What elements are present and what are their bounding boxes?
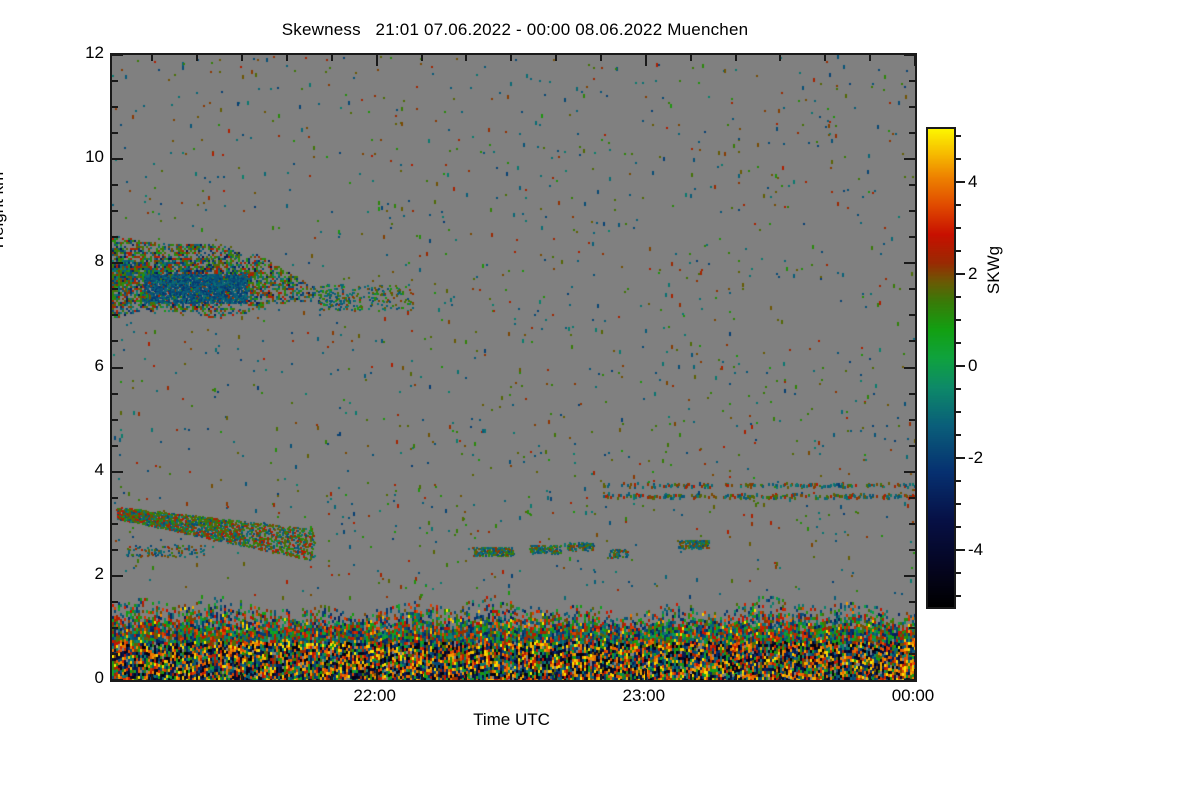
y-axis-minor-tick [112,445,118,447]
y-axis-major-tick [112,471,123,473]
y-axis-tick-label: 6 [68,356,104,376]
y-axis-minor-tick [112,314,118,316]
y-axis-minor-tick [112,497,118,499]
y-axis-label: Height km [0,120,8,300]
colorbar-minor-tick [956,319,961,321]
x-axis-minor-tick [779,674,781,680]
y-axis-tick-label: 10 [68,147,104,167]
y-axis-tick-label: 4 [68,460,104,480]
x-axis-tick-label: 22:00 [330,686,420,706]
colorbar-tick-label: 2 [968,264,977,284]
x-axis-minor-tick [241,674,243,680]
y-axis-minor-tick [112,393,118,395]
y-axis-minor-tick [909,497,915,499]
x-axis-minor-tick [331,674,333,680]
y-axis-major-tick [112,54,123,56]
y-axis-minor-tick [909,340,915,342]
x-axis-tick-labels: 22:0023:0000:00 [110,686,913,710]
y-axis-minor-tick [112,627,118,629]
y-axis-major-tick [904,471,915,473]
y-axis-minor-tick [909,419,915,421]
y-axis-minor-tick [909,236,915,238]
x-axis-major-tick [914,669,916,680]
x-axis-tick-label: 23:00 [599,686,689,706]
colorbar-minor-tick [956,250,961,252]
x-axis-minor-tick [196,674,198,680]
x-axis-minor-tick [151,674,153,680]
y-axis-minor-tick [112,549,118,551]
x-axis-minor-tick [421,55,423,61]
y-axis-major-tick [904,367,915,369]
y-axis-minor-tick [909,549,915,551]
y-axis-minor-tick [909,184,915,186]
x-axis-minor-tick [196,55,198,61]
y-axis-major-tick [904,575,915,577]
figure-root: Skewness 21:01 07.06.2022 - 00:00 08.06.… [0,0,1200,800]
y-axis-minor-tick [909,132,915,134]
y-axis-minor-tick [112,419,118,421]
y-axis-major-tick [112,575,123,577]
y-axis-major-tick [112,158,123,160]
y-axis-minor-tick [112,106,118,108]
colorbar-minor-tick [956,204,961,206]
colorbar-minor-tick [956,296,961,298]
x-axis-minor-tick [465,55,467,61]
y-axis-tick-label: 8 [68,251,104,271]
colorbar-major-tick [956,365,965,367]
plot-area [110,53,917,682]
colorbar-minor-tick [956,595,961,597]
y-axis-minor-tick [909,106,915,108]
x-axis-tick-label: 00:00 [868,686,958,706]
colorbar-tick-marks [926,127,956,605]
y-axis-minor-tick [909,288,915,290]
y-axis-minor-tick [909,653,915,655]
x-axis-minor-tick [779,55,781,61]
x-axis-minor-tick [824,55,826,61]
x-axis-minor-tick [600,55,602,61]
y-axis-minor-tick [112,236,118,238]
x-axis-minor-tick [510,55,512,61]
x-axis-minor-tick [421,674,423,680]
y-axis-minor-tick [112,653,118,655]
y-axis-minor-tick [112,80,118,82]
colorbar-minor-tick [956,503,961,505]
colorbar-tick-label: -4 [968,540,983,560]
colorbar-major-tick [956,181,965,183]
y-axis-minor-tick [112,601,118,603]
x-axis-major-tick [376,669,378,680]
colorbar-minor-tick [956,526,961,528]
x-axis-minor-tick [286,55,288,61]
y-axis-tick-label: 2 [68,564,104,584]
x-axis-minor-tick [151,55,153,61]
colorbar-minor-tick [956,227,961,229]
colorbar-tick-label: 0 [968,356,977,376]
x-axis-minor-tick [869,674,871,680]
colorbar-tick-label: 4 [968,172,977,192]
x-axis-minor-tick [690,674,692,680]
y-axis-minor-tick [112,210,118,212]
x-axis-minor-tick [286,674,288,680]
y-axis-minor-tick [909,393,915,395]
y-axis-minor-tick [909,314,915,316]
y-axis-major-tick [112,367,123,369]
x-axis-minor-tick [510,674,512,680]
colorbar-minor-tick [956,434,961,436]
y-axis-tick-labels: 024681012 [58,53,104,678]
x-axis-minor-tick [555,674,557,680]
colorbar-minor-tick [956,158,961,160]
y-axis-minor-tick [112,288,118,290]
x-axis-minor-tick [735,55,737,61]
x-axis-minor-tick [465,674,467,680]
y-axis-major-tick [904,262,915,264]
y-axis-minor-tick [909,445,915,447]
y-axis-major-tick [112,679,123,681]
colorbar-minor-tick [956,342,961,344]
colorbar-minor-tick [956,480,961,482]
x-axis-minor-tick [331,55,333,61]
x-axis-minor-tick [241,55,243,61]
x-axis-minor-tick [824,674,826,680]
x-axis-major-tick [645,55,647,66]
colorbar-major-tick [956,549,965,551]
skewness-heatmap [112,55,915,680]
y-axis-minor-tick [112,132,118,134]
x-axis-major-tick [645,669,647,680]
y-axis-tick-label: 12 [68,43,104,63]
y-axis-minor-tick [112,184,118,186]
x-axis-minor-tick [869,55,871,61]
x-axis-minor-tick [600,674,602,680]
y-axis-minor-tick [112,523,118,525]
y-axis-tick-label: 0 [68,668,104,688]
y-axis-minor-tick [909,601,915,603]
colorbar-tick-label: -2 [968,448,983,468]
y-axis-minor-tick [909,210,915,212]
y-axis-major-tick [112,262,123,264]
colorbar-minor-tick [956,411,961,413]
colorbar-major-tick [956,457,965,459]
x-axis-minor-tick [555,55,557,61]
x-axis-label: Time UTC [110,710,913,730]
y-axis-minor-tick [909,627,915,629]
x-axis-major-tick [376,55,378,66]
colorbar-major-tick [956,273,965,275]
colorbar-minor-tick [956,572,961,574]
colorbar-title: SKWg [984,210,1004,330]
figure-title: Skewness 21:01 07.06.2022 - 00:00 08.06.… [0,20,1030,40]
colorbar-minor-tick [956,388,961,390]
y-axis-minor-tick [112,340,118,342]
x-axis-minor-tick [690,55,692,61]
y-axis-minor-tick [909,80,915,82]
x-axis-major-tick [914,55,916,66]
x-axis-minor-tick [735,674,737,680]
y-axis-major-tick [904,158,915,160]
colorbar-minor-tick [956,135,961,137]
y-axis-minor-tick [909,523,915,525]
